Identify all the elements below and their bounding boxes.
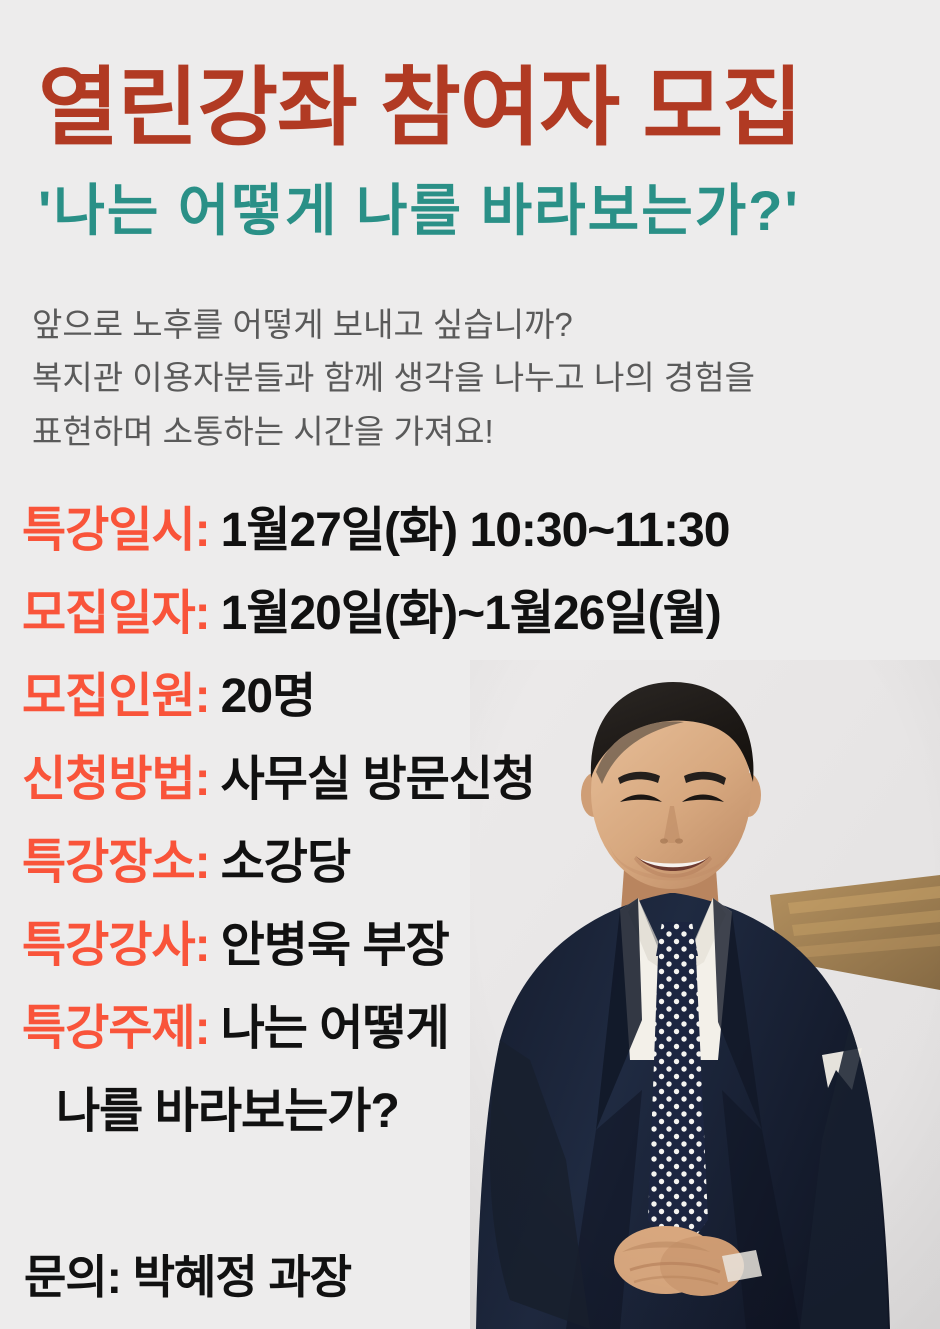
detail-row-lecturer: 특강강사: 안병욱 부장 (22, 920, 940, 1003)
detail-row-application-period: 모집일자: 1월20일(화)~1월26일(월) (22, 588, 940, 671)
poster-root: 열린강좌 참여자 모집 '나는 어떻게 나를 바라보는가?' 앞으로 노후를 어… (0, 0, 940, 1329)
detail-value: 20명 (221, 671, 316, 724)
intro-line-1: 앞으로 노후를 어떻게 보내고 싶습니까? (32, 298, 922, 351)
detail-label: 특강장소: (22, 837, 221, 890)
detail-list: 특강일시: 1월27일(화) 10:30~11:30 모집일자: 1월20일(화… (22, 505, 940, 1169)
detail-row-venue: 특강장소: 소강당 (22, 837, 940, 920)
intro-paragraph: 앞으로 노후를 어떻게 보내고 싶습니까? 복지관 이용자분들과 함께 생각을 … (32, 298, 922, 458)
detail-value: 1월27일(화) 10:30~11:30 (221, 505, 730, 558)
detail-value: 안병욱 부장 (221, 920, 449, 973)
detail-label: 신청방법: (22, 754, 221, 807)
contact-line: 문의: 박혜정 과장 (24, 1252, 351, 1303)
detail-label: 모집인원: (22, 671, 221, 724)
detail-label: 특강강사: (22, 920, 221, 973)
detail-row-how-to-apply: 신청방법: 사무실 방문신청 (22, 754, 940, 837)
detail-value: 소강당 (221, 837, 350, 890)
detail-value: 나는 어떻게 (221, 1003, 449, 1056)
detail-row-capacity: 모집인원: 20명 (22, 671, 940, 754)
detail-label: 특강일시: (22, 505, 221, 558)
page-title: 열린강좌 참여자 모집 (38, 64, 936, 153)
detail-topic-continuation: 나를 바라보는가? (22, 1086, 940, 1169)
detail-row-topic: 특강주제: 나는 어떻게 (22, 1003, 940, 1086)
detail-value: 1월20일(화)~1월26일(월) (221, 588, 721, 641)
detail-label: 모집일자: (22, 588, 221, 641)
detail-label: 특강주제: (22, 1003, 221, 1056)
intro-line-3: 표현하며 소통하는 시간을 가져요! (32, 405, 922, 458)
page-subtitle: '나는 어떻게 나를 바라보는가?' (38, 180, 928, 242)
detail-value: 사무실 방문신청 (221, 754, 535, 807)
detail-row-lecture-datetime: 특강일시: 1월27일(화) 10:30~11:30 (22, 505, 940, 588)
intro-line-2: 복지관 이용자분들과 함께 생각을 나누고 나의 경험을 (32, 351, 922, 404)
